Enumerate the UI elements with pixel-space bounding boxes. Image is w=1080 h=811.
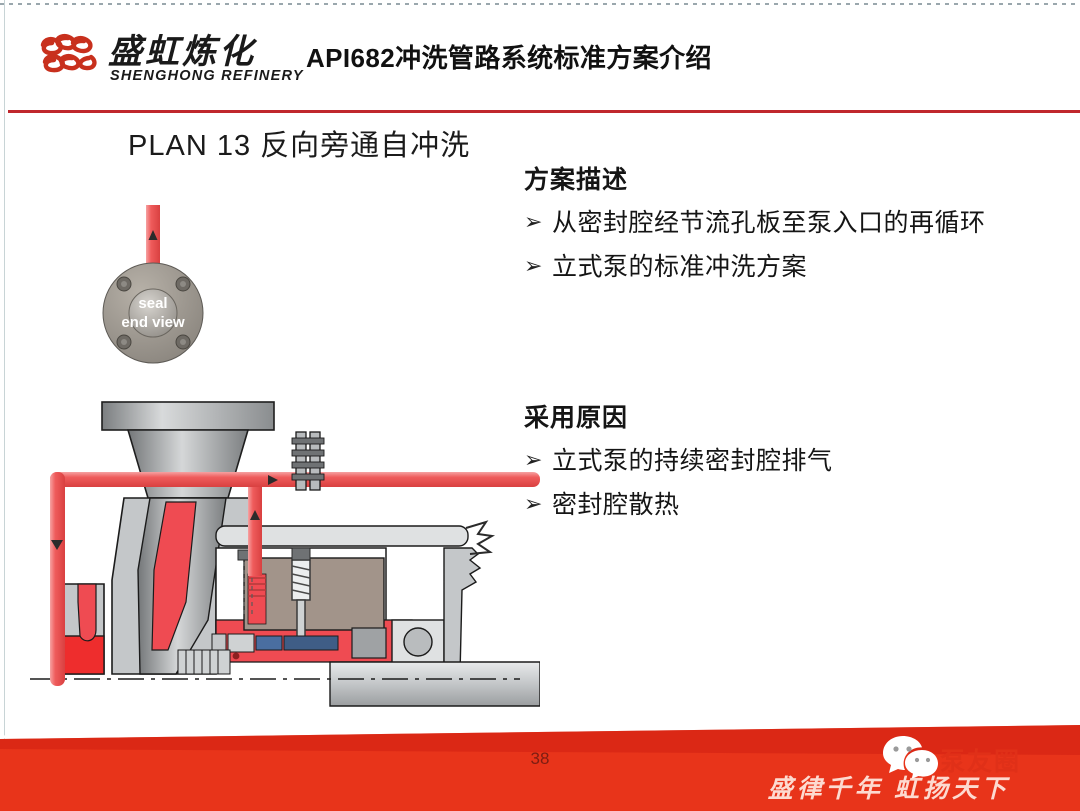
bullet-text: 立式泵的持续密封腔排气 bbox=[552, 446, 833, 476]
bullet-item: ➢ 密封腔散热 bbox=[524, 490, 1072, 520]
spring-cap bbox=[292, 548, 310, 560]
bullet-item: ➢ 立式泵的持续密封腔排气 bbox=[524, 446, 1072, 476]
bullet-text: 密封腔散热 bbox=[552, 490, 680, 520]
plan13-pump-diagram: seal end view bbox=[0, 150, 540, 710]
bullet-item: ➢ 立式泵的标准冲洗方案 bbox=[524, 252, 1072, 282]
discharge-flange bbox=[102, 402, 274, 430]
bullet-arrow-icon: ➢ bbox=[524, 208, 552, 238]
seal-end-view-label-line2: end view bbox=[121, 314, 185, 331]
bullet-text: 立式泵的标准冲洗方案 bbox=[552, 252, 807, 282]
section-reason: 采用原因 ➢ 立式泵的持续密封腔排气 ➢ 密封腔散热 bbox=[524, 398, 1072, 534]
casing-fins bbox=[178, 650, 230, 674]
flush-return-leg bbox=[50, 472, 65, 686]
bullet-item: ➢ 从密封腔经节流孔板至泵入口的再循环 bbox=[524, 208, 1072, 238]
pump-shaft bbox=[330, 662, 540, 706]
bullet-text: 从密封腔经节流孔板至泵入口的再循环 bbox=[552, 208, 986, 238]
suction-inner-fluid bbox=[78, 584, 96, 641]
seal-end-view-label-line1: seal bbox=[138, 295, 167, 312]
bullet-arrow-icon: ➢ bbox=[524, 252, 552, 282]
footer-calligraphy: 盛律千年 虹扬天下 bbox=[768, 769, 1010, 805]
seal-flush-port bbox=[248, 574, 266, 624]
logo-english-name: SHENGHONG REFINERY bbox=[110, 68, 304, 84]
housing-break-edge bbox=[444, 548, 480, 674]
bullet-arrow-icon: ➢ bbox=[524, 446, 552, 476]
flush-riser-pipe bbox=[248, 480, 262, 576]
pump-column bbox=[128, 430, 248, 498]
section-heading-reason: 采用原因 bbox=[524, 398, 1072, 434]
header-divider bbox=[8, 110, 1080, 113]
seal-end-view: seal end view bbox=[103, 205, 203, 363]
bullet-arrow-icon: ➢ bbox=[524, 490, 552, 520]
logo-chinese-name: 盛虹炼化 bbox=[108, 24, 256, 73]
slide-canvas: 盛虹炼化 SHENGHONG REFINERY API682冲洗管路系统标准方案… bbox=[0, 0, 1080, 811]
page-title: API682冲洗管路系统标准方案介绍 bbox=[306, 38, 712, 75]
section-description: 方案描述 ➢ 从密封腔经节流孔板至泵入口的再循环 ➢ 立式泵的标准冲洗方案 bbox=[524, 160, 1072, 296]
vertical-pump-section bbox=[30, 402, 540, 706]
shenghong-logo-mark bbox=[38, 28, 100, 84]
section-heading-description: 方案描述 bbox=[524, 160, 1072, 196]
company-logo: 盛虹炼化 SHENGHONG REFINERY bbox=[38, 24, 288, 90]
slide-header: 盛虹炼化 SHENGHONG REFINERY API682冲洗管路系统标准方案… bbox=[0, 0, 1080, 112]
